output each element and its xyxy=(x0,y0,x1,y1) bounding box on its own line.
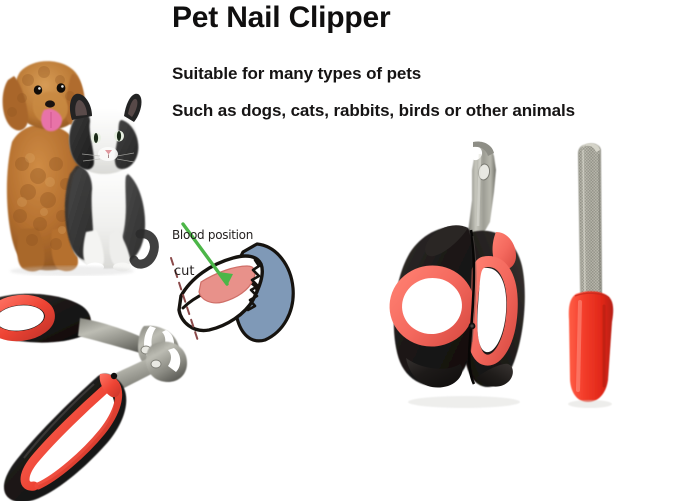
dog-and-cat-photo xyxy=(0,24,166,276)
bullet-line-2: Such as dogs, cats, rabbits, birds or ot… xyxy=(172,100,575,122)
metal-nail-file-photo xyxy=(556,142,656,410)
page-title: Pet Nail Clipper xyxy=(172,0,391,36)
nail-clipper-product-photo xyxy=(372,140,542,415)
cat-figure xyxy=(65,94,154,272)
product-marketing-image: Pet Nail Clipper Suitable for many types… xyxy=(0,0,679,501)
bullet-line-1: Suitable for many types of pets xyxy=(172,63,421,85)
blood-position-label: Blood position xyxy=(172,228,253,242)
cut-label: cut xyxy=(174,264,194,279)
nail-clipper-open-photo xyxy=(0,288,206,501)
